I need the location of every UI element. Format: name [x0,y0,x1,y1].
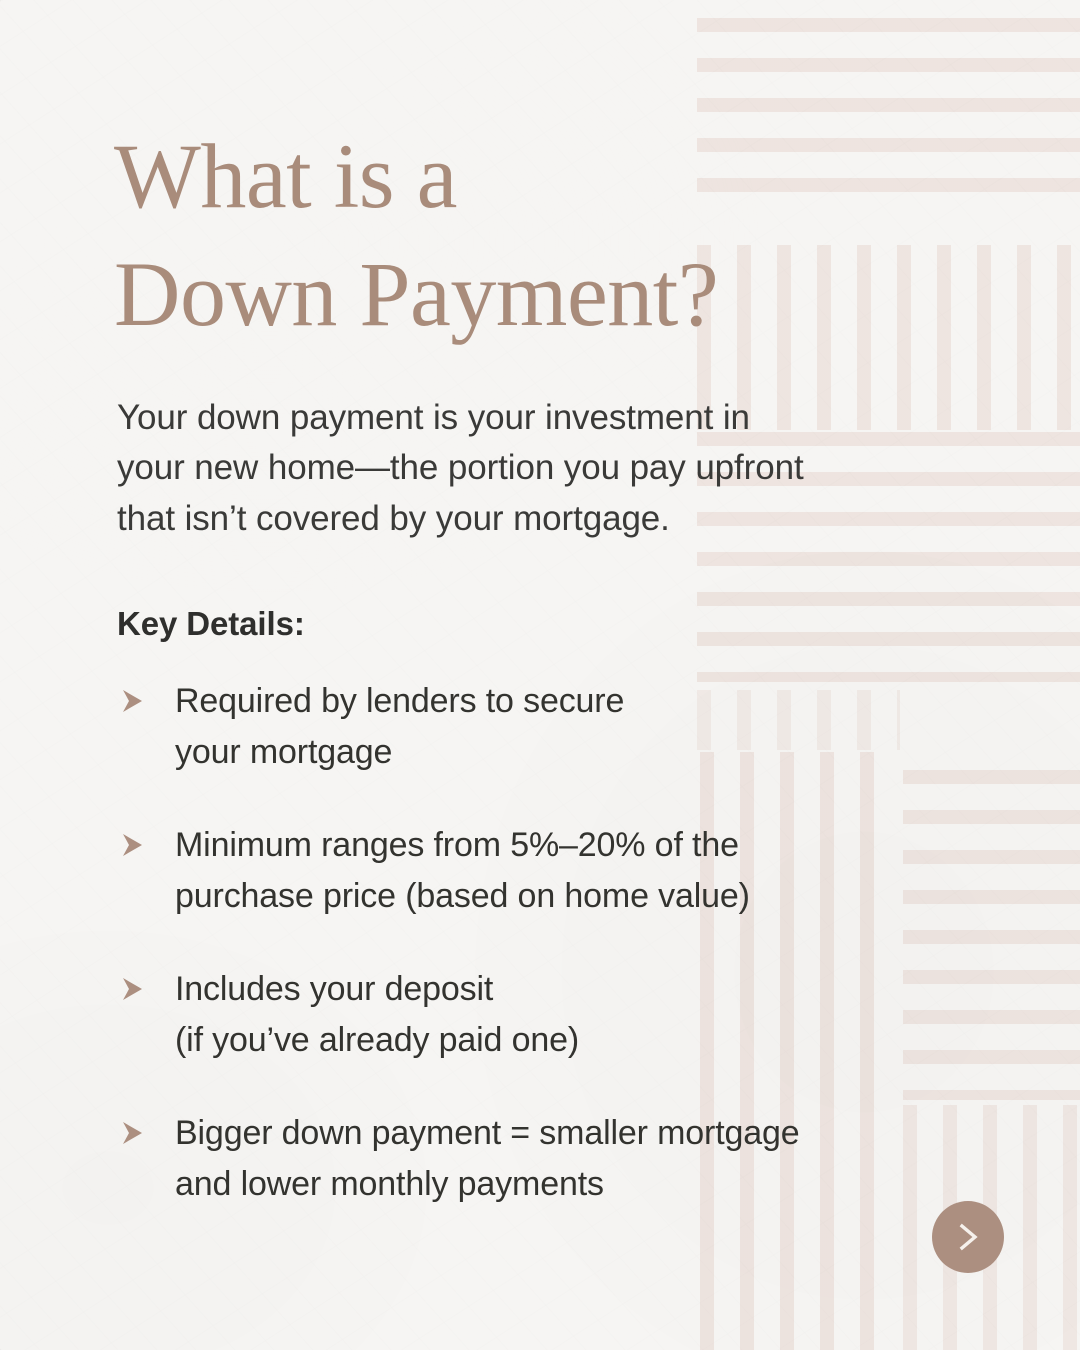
intro-paragraph: Your down payment is your investment in … [117,393,947,544]
page-title: What is a Down Payment? [114,118,874,354]
page-title-line-1: What is a [114,118,874,236]
slide-content: What is a Down Payment? Your down paymen… [0,0,1080,1350]
list-item-line-1: Minimum ranges from 5%–20% of the [175,820,977,871]
list-item-line-2: and lower monthly payments [175,1159,977,1210]
list-item-line-2: purchase price (based on home value) [175,871,977,922]
list-item-line-1: Required by lenders to secure [175,676,977,727]
list-item-line-2: your mortgage [175,727,977,778]
chevron-right-arrow-icon [120,1118,146,1148]
list-item-line-1: Includes your deposit [175,964,977,1015]
chevron-right-icon [953,1220,983,1254]
chevron-right-arrow-icon [120,686,146,716]
list-item: Bigger down payment = smaller mortgage a… [117,1108,977,1210]
list-item: Minimum ranges from 5%–20% of the purcha… [117,820,977,922]
intro-paragraph-line-2: your new home—the portion you pay upfron… [117,443,947,493]
intro-paragraph-line-3: that isn’t covered by your mortgage. [117,494,947,544]
list-item: Includes your deposit (if you’ve already… [117,964,977,1066]
key-details-heading: Key Details: [117,605,305,643]
chevron-right-arrow-icon [120,974,146,1004]
page-title-line-2: Down Payment? [114,236,874,354]
intro-paragraph-line-1: Your down payment is your investment in [117,393,947,443]
next-slide-button[interactable] [932,1201,1004,1273]
chevron-right-arrow-icon [120,830,146,860]
list-item: Required by lenders to secure your mortg… [117,676,977,778]
list-item-line-1: Bigger down payment = smaller mortgage [175,1108,977,1159]
key-details-list: Required by lenders to secure your mortg… [117,676,977,1210]
list-item-line-2: (if you’ve already paid one) [175,1015,977,1066]
slide-canvas: What is a Down Payment? Your down paymen… [0,0,1080,1350]
